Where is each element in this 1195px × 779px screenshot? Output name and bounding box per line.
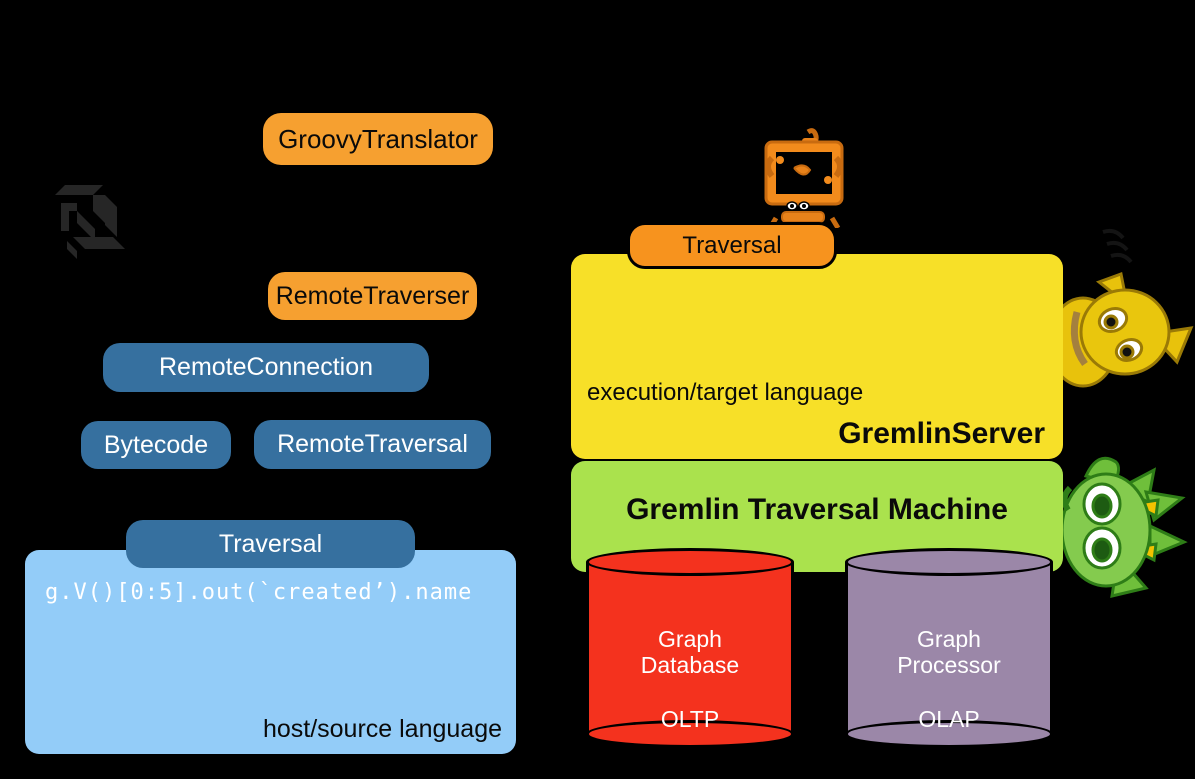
graph-database-sublabel: OLTP: [586, 706, 794, 733]
graph-processor-sublabel: OLAP: [845, 706, 1053, 733]
graph-processor-label: Graph Processor: [845, 626, 1053, 679]
node-remote-traverser[interactable]: RemoteTraverser: [268, 272, 477, 320]
host-language-box: g.V()[0:5].out(`created’).name ython hos…: [25, 550, 516, 754]
node-bytecode-label: Bytecode: [104, 431, 208, 460]
node-traversal-host[interactable]: Traversal: [126, 520, 415, 568]
orange-gremlin-icon: [752, 128, 857, 228]
graph-processor-cylinder[interactable]: Graph Processor OLAP: [845, 548, 1053, 748]
node-remote-traversal-label: RemoteTraversal: [277, 430, 468, 459]
cylinder-top: [586, 548, 794, 576]
node-remote-traversal[interactable]: RemoteTraversal: [254, 420, 491, 469]
node-groovy-translator-label: GroovyTranslator: [278, 124, 478, 155]
gremlin-server-caption: execution/target language: [587, 379, 863, 407]
graph-database-label: Graph Database: [586, 626, 794, 679]
node-bytecode[interactable]: Bytecode: [81, 421, 231, 469]
graph-database-cylinder[interactable]: Graph Database OLTP: [586, 548, 794, 748]
gremlin-server-box: JVM execution/target language GremlinSer…: [571, 254, 1063, 459]
cylinder-top: [845, 548, 1053, 576]
tinkerpop-logo-icon: [47, 175, 147, 263]
node-traversal-host-label: Traversal: [219, 530, 322, 559]
gremlin-traversal-machine-title: Gremlin Traversal Machine: [571, 493, 1063, 527]
node-traversal-server-label: Traversal: [682, 232, 781, 260]
node-remote-connection-label: RemoteConnection: [159, 353, 373, 382]
node-traversal-server[interactable]: Traversal: [627, 222, 837, 269]
gremlin-code-snippet: g.V()[0:5].out(`created’).name: [45, 580, 472, 605]
diagram-canvas: GroovyTranslator RemoteTraverser RemoteC…: [0, 0, 1195, 779]
green-gremlin-icon: [1058, 452, 1188, 607]
yellow-gremlin-icon: [1055, 222, 1195, 402]
gremlin-server-title: GremlinServer: [838, 417, 1045, 451]
node-remote-traverser-label: RemoteTraverser: [276, 282, 470, 311]
node-remote-connection[interactable]: RemoteConnection: [103, 343, 429, 392]
node-groovy-translator[interactable]: GroovyTranslator: [263, 113, 493, 165]
host-language-caption: host/source language: [263, 715, 502, 744]
